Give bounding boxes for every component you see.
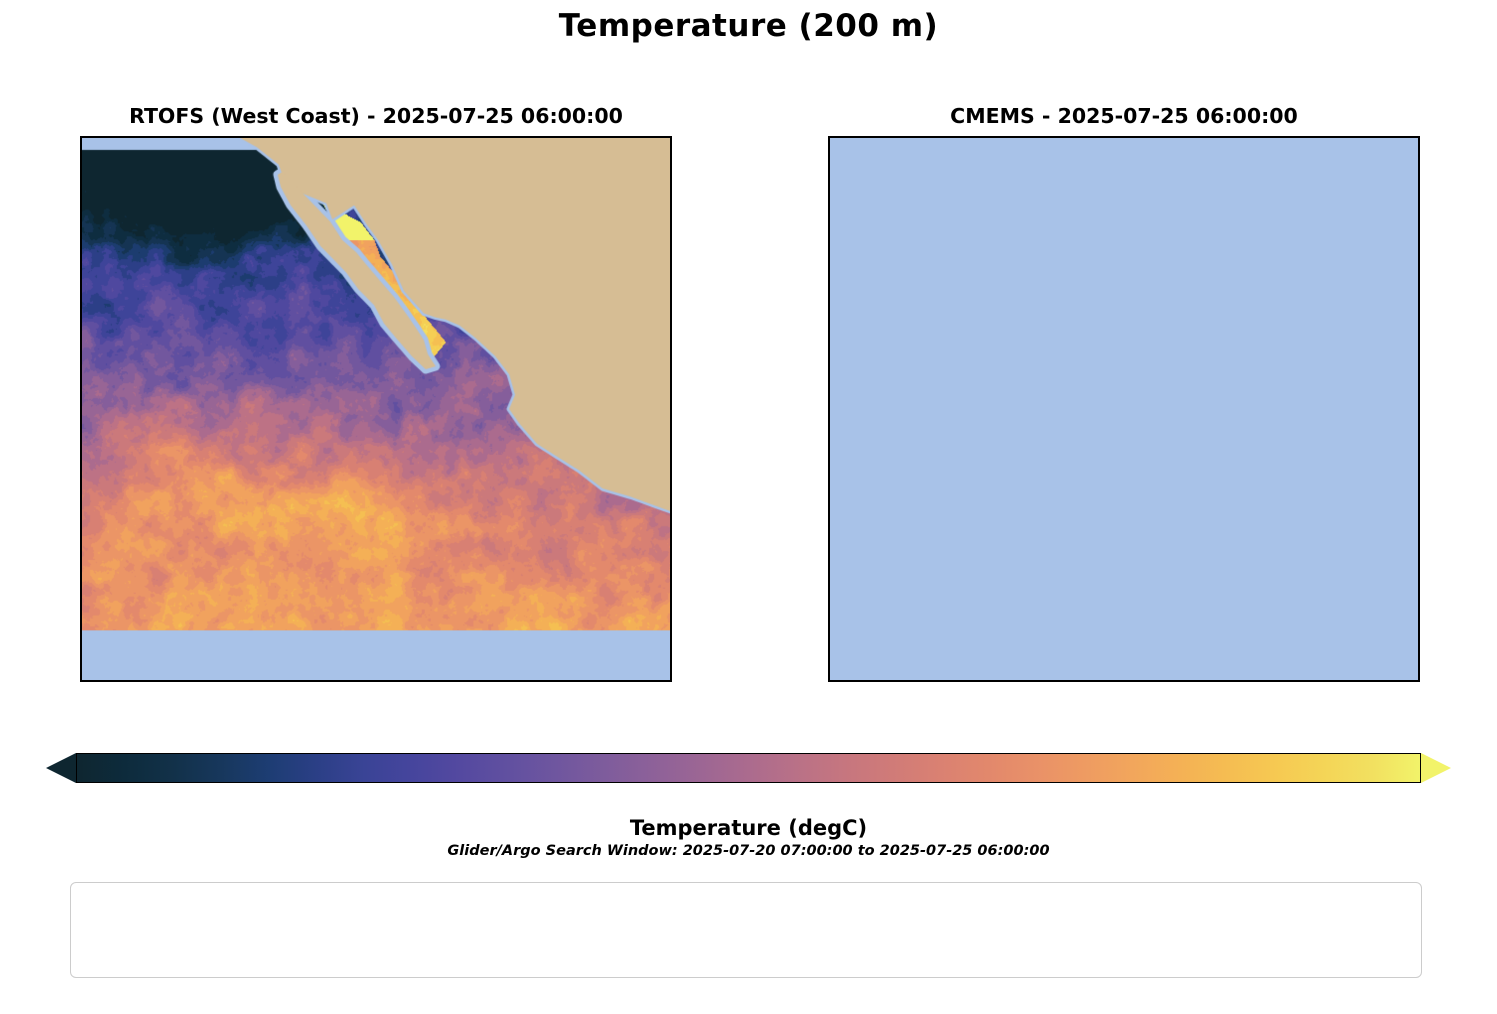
colorbar-label: Temperature (degC)	[0, 816, 1497, 840]
colorbar	[46, 753, 1451, 783]
search-window-text: Glider/Argo Search Window: 2025-07-20 07…	[0, 843, 1497, 859]
colorbar-gradient	[76, 753, 1421, 783]
map-panel-cmems[interactable]	[828, 136, 1420, 682]
figure-title: Temperature (200 m)	[0, 8, 1497, 44]
platform-legend	[70, 882, 1422, 978]
colorbar-low-extend-arrow	[46, 753, 76, 783]
colorbar-high-extend-arrow	[1421, 753, 1451, 783]
panel-title-rtofs: RTOFS (West Coast) - 2025-07-25 06:00:00	[80, 104, 672, 128]
temperature-field-cmems	[830, 138, 1418, 680]
temperature-field-rtofs	[82, 138, 670, 680]
panel-title-cmems: CMEMS - 2025-07-25 06:00:00	[828, 104, 1420, 128]
map-panel-rtofs[interactable]	[80, 136, 672, 682]
